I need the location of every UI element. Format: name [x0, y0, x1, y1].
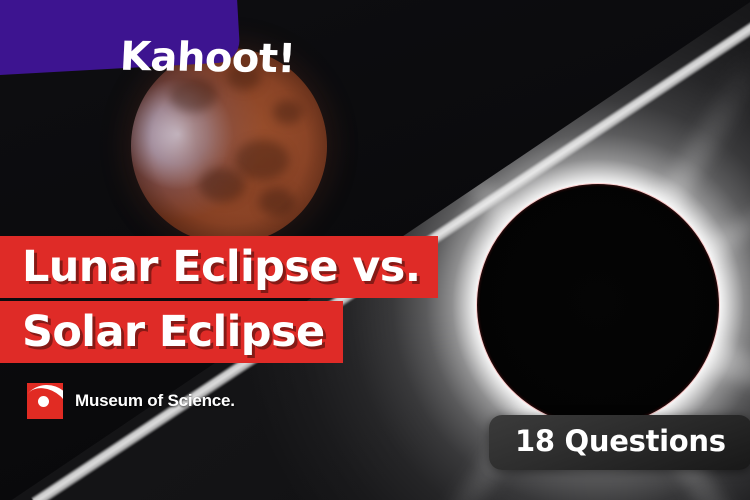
- page-title: Lunar Eclipse vs. Solar Eclipse: [0, 236, 438, 363]
- kahoot-quiz-cover: Kahoot! Lunar Eclipse vs. Solar Eclipse …: [0, 0, 750, 500]
- page-title-line-2: Solar Eclipse: [0, 301, 343, 363]
- kahoot-wordmark: Kahoot!: [119, 37, 296, 79]
- publisher-name: Museum of Science.: [75, 391, 235, 411]
- question-count-badge: 18 Questions: [489, 415, 750, 470]
- orbit-swoosh-icon: [27, 383, 63, 419]
- orbit-dot-icon: [38, 396, 49, 407]
- page-title-line-1: Lunar Eclipse vs.: [0, 236, 438, 298]
- publisher-credit[interactable]: Museum of Science.: [27, 383, 235, 419]
- occulting-moon-disk: [477, 184, 719, 426]
